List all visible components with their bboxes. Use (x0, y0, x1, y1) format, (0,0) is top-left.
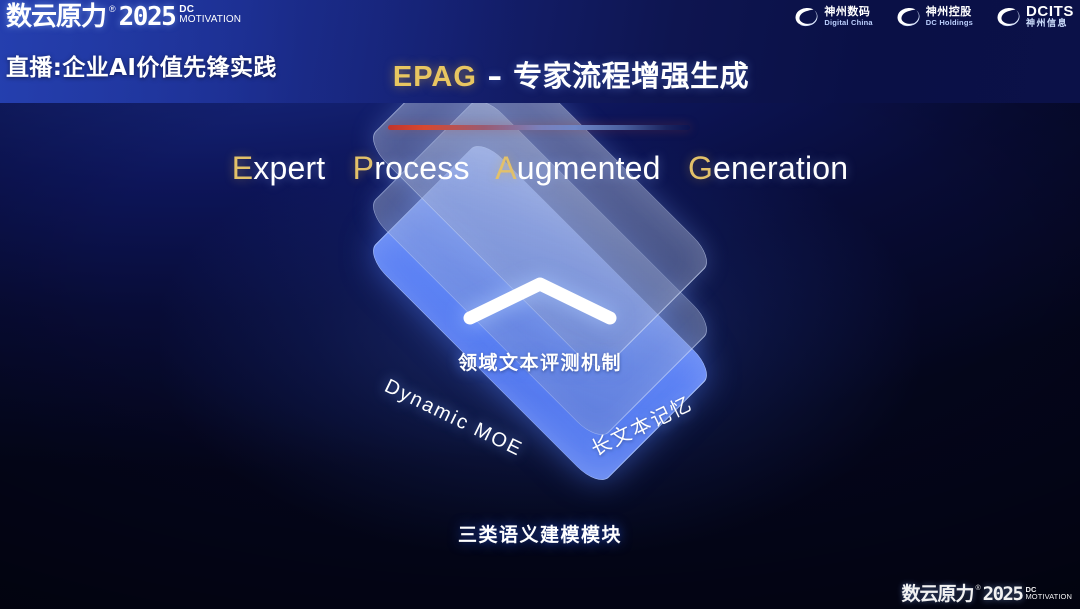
swirl-logo-icon (793, 6, 819, 28)
subtitle-word-expert: Expert (232, 150, 326, 186)
partner-logo-group: 神州数码 Digital China 神州控股 DC Holdings DCIT… (793, 4, 1074, 29)
subtitle-capital: E (232, 150, 254, 186)
partner-text-dcits: DCITS 神州信息 (1026, 4, 1074, 29)
brand-logo-year: 2025 (119, 3, 176, 31)
slide-subtitle: Expert Process Augmented Generation (0, 150, 1080, 187)
subtitle-rest: ugmented (517, 150, 661, 186)
partner-text-digital-china: 神州数码 Digital China (824, 6, 872, 27)
subtitle-rest: rocess (374, 150, 469, 186)
swirl-logo-icon (995, 6, 1021, 28)
subtitle-rest: eneration (713, 150, 848, 186)
subtitle-word-augmented: Augmented (495, 150, 660, 186)
brand-logo-cn: 数云原力 (6, 3, 106, 31)
partner-logo-dc-holdings: 神州控股 DC Holdings (895, 6, 973, 28)
swirl-logo-icon (895, 6, 921, 28)
slide-title: EPAG – 专家流程增强生成 (0, 53, 1080, 95)
watermark-motivation-text: MOTIVATION (1025, 593, 1072, 602)
chevron-up-icon (460, 272, 620, 328)
watermark-registered-mark: ® (976, 584, 981, 593)
brand-dc-text: DC (179, 5, 241, 14)
layer-stack-diagram (260, 208, 820, 568)
partner-cn-label: 神州信息 (1026, 20, 1074, 29)
subtitle-rest: xpert (253, 150, 325, 186)
brand-motivation-text: MOTIVATION (179, 14, 241, 25)
title-acronym: EPAG (393, 61, 477, 93)
partner-cn-label: 神州控股 (926, 6, 973, 17)
subtitle-word-process: Process (353, 150, 470, 186)
partner-en-label: DCITS (1026, 4, 1074, 19)
brand-registered-mark: ® (109, 3, 116, 15)
subtitle-space (334, 150, 343, 186)
partner-cn-label: 神州数码 (824, 6, 872, 17)
subtitle-capital: A (495, 150, 517, 186)
partner-text-dc-holdings: 神州控股 DC Holdings (926, 6, 973, 27)
partner-en-label: Digital China (824, 19, 872, 27)
brand-logo-dc-motivation: DC MOTIVATION (179, 3, 241, 25)
brand-logo: 数云原力 ® 2025 DC MOTIVATION (6, 3, 241, 31)
partner-logo-digital-china: 神州数码 Digital China (793, 6, 872, 28)
title-chinese: 专家流程增强生成 (513, 59, 749, 93)
subtitle-capital: G (688, 150, 713, 186)
title-divider (388, 125, 690, 130)
watermark-dc-motivation: DC MOTIVATION (1025, 584, 1072, 602)
partner-en-label: DC Holdings (926, 19, 973, 27)
watermark-cn: 数云原力 (901, 584, 973, 605)
partner-logo-dcits: DCITS 神州信息 (995, 4, 1074, 29)
title-dash: – (477, 59, 513, 93)
footer-watermark-logo: 数云原力 ® 2025 DC MOTIVATION (901, 584, 1072, 605)
subtitle-word-generation: Generation (688, 150, 848, 186)
subtitle-space (479, 150, 488, 186)
watermark-year: 2025 (983, 584, 1023, 605)
subtitle-capital: P (353, 150, 375, 186)
subtitle-space (670, 150, 679, 186)
